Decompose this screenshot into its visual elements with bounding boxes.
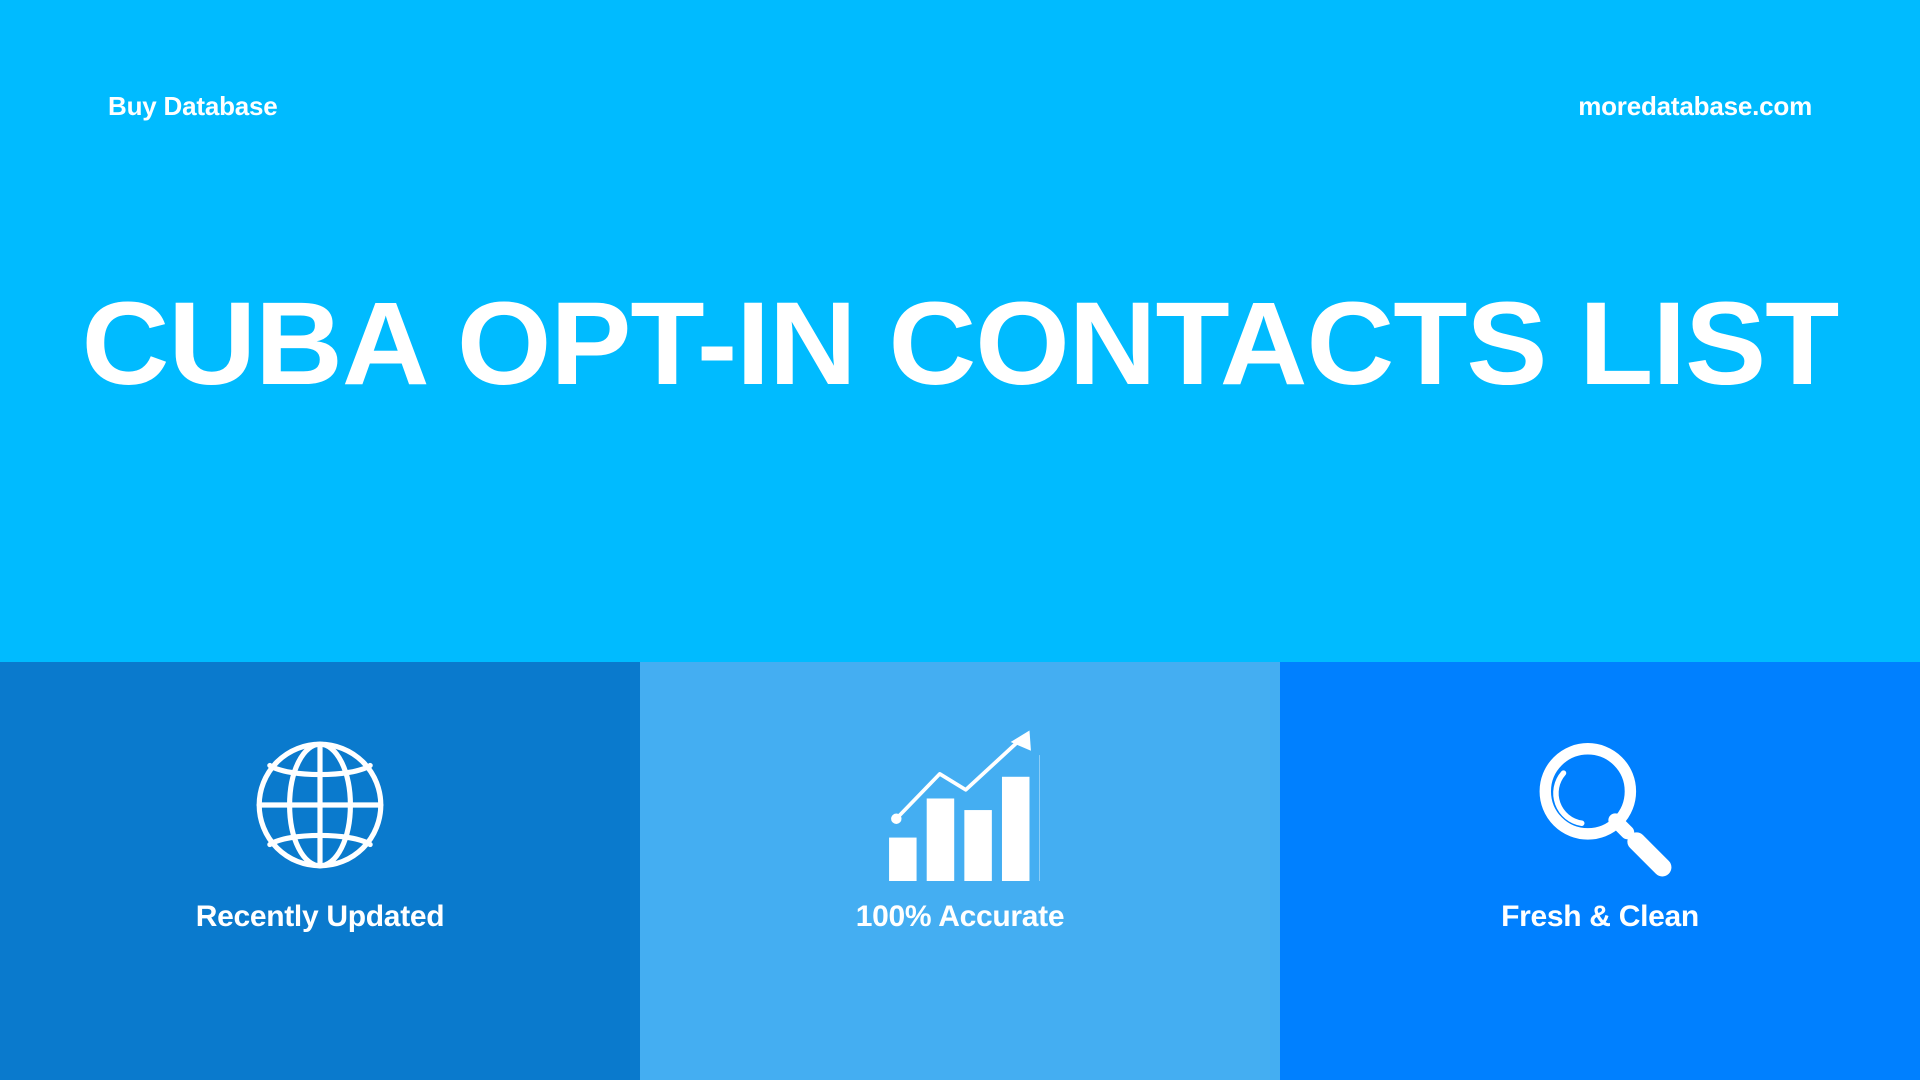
feature-label: Recently Updated [196,902,445,932]
growth-chart-icon [880,730,1040,880]
feature-strip: Recently Updated [0,662,1920,1080]
magnifier-icon [1520,730,1680,880]
feature-label: Fresh & Clean [1501,902,1699,932]
feature-label: 100% Accurate [856,902,1064,932]
top-bar: Buy Database moredatabase.com [0,86,1920,126]
feature-card-fresh-clean: Fresh & Clean [1280,662,1920,1080]
promo-banner: Buy Database moredatabase.com CUBA OPT-I… [0,0,1920,1080]
website-label: moredatabase.com [1578,93,1812,119]
globe-icon [240,730,400,880]
feature-card-recently-updated: Recently Updated [0,662,640,1080]
hero-section: Buy Database moredatabase.com CUBA OPT-I… [0,0,1920,662]
brand-label: Buy Database [108,93,278,119]
page-title: CUBA OPT-IN CONTACTS LIST [0,285,1920,403]
feature-card-accurate: 100% Accurate [640,662,1280,1080]
